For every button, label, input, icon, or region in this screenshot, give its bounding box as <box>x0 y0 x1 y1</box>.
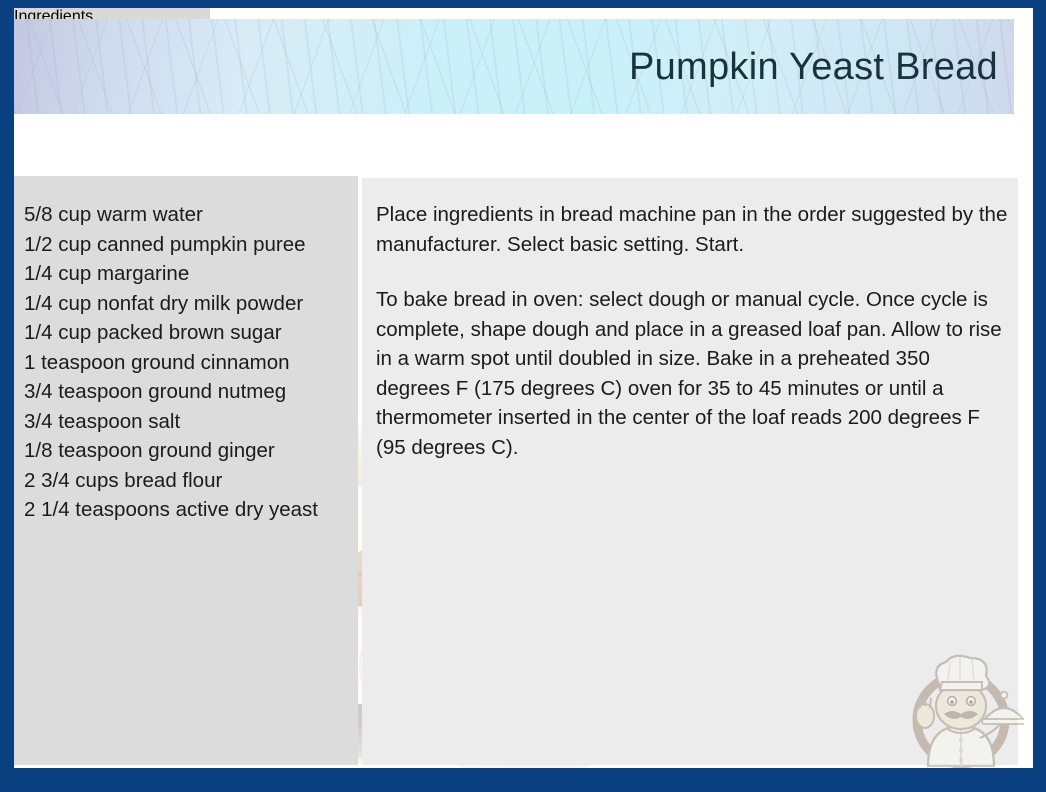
directions-paragraph: To bake bread in oven: select dough or m… <box>376 285 1008 462</box>
list-item: 1/4 cup margarine <box>24 259 318 289</box>
directions-text: Place ingredients in bread machine pan i… <box>376 200 1008 462</box>
list-item: 1 teaspoon ground cinnamon <box>24 348 318 378</box>
directions-panel: Place ingredients in bread machine pan i… <box>362 178 1018 765</box>
list-item: 3/4 teaspoon salt <box>24 407 318 437</box>
list-item: 1/4 cup packed brown sugar <box>24 318 318 348</box>
list-item: 2 1/4 teaspoons active dry yeast <box>24 495 318 525</box>
header-banner: Pumpkin Yeast Bread <box>14 19 1014 114</box>
directions-paragraph: Place ingredients in bread machine pan i… <box>376 200 1008 259</box>
ingredients-panel: 5/8 cup warm water 1/2 cup canned pumpki… <box>14 176 358 765</box>
list-item: 1/2 cup canned pumpkin puree <box>24 230 318 260</box>
list-item: 5/8 cup warm water <box>24 200 318 230</box>
page-title: Pumpkin Yeast Bread <box>629 48 998 86</box>
list-item: 3/4 teaspoon ground nutmeg <box>24 377 318 407</box>
ingredients-list: 5/8 cup warm water 1/2 cup canned pumpki… <box>24 200 318 525</box>
slide-page: Pumpkin Yeast Bread <box>14 8 1033 768</box>
list-item: 1/4 cup nonfat dry milk powder <box>24 289 318 319</box>
list-item: 2 3/4 cups bread flour <box>24 466 318 496</box>
recipe-slide: Pumpkin Yeast Bread <box>0 0 1046 792</box>
list-item: 1/8 teaspoon ground ginger <box>24 436 318 466</box>
